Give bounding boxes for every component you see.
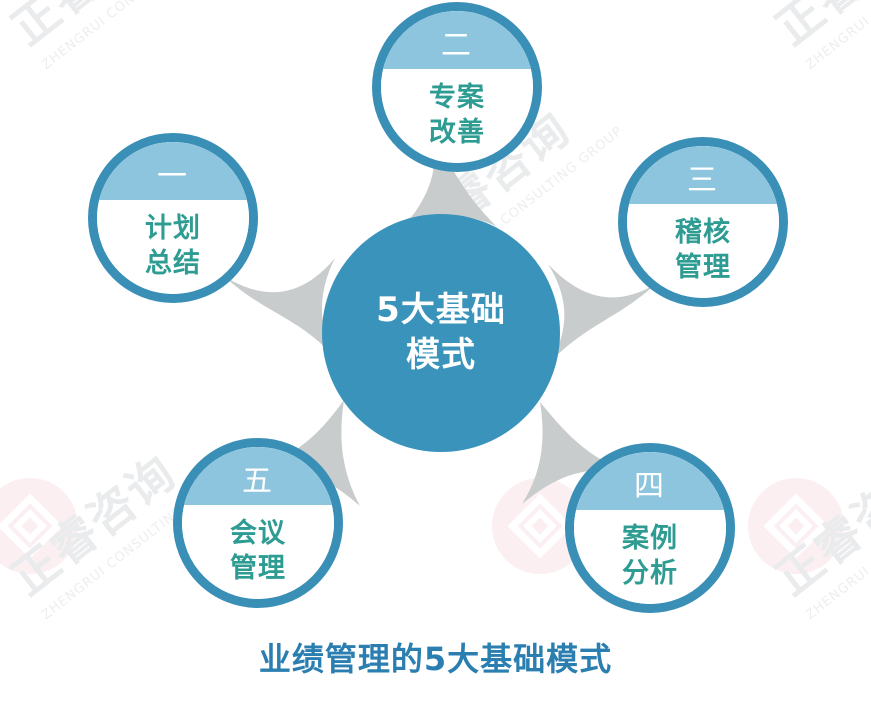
node-label-line-1: 稽核: [675, 216, 731, 251]
node-label-line-2: 改善: [429, 116, 485, 151]
watermark-brand-label: 正睿咨询: [2, 445, 187, 606]
node-body: 计划 总结: [97, 200, 249, 294]
watermark-brand-text: 正睿咨询 ZHENGRUI CONSULTING GROUP: [0, 0, 232, 73]
node-label-line-2: 管理: [230, 552, 286, 587]
node-label-line-1: 案例: [622, 522, 678, 557]
node-label-line-2: 总结: [145, 247, 201, 282]
node-numeral-project-improvement: 二: [381, 11, 533, 69]
node-label-line-2: 管理: [675, 251, 731, 286]
watermark-brand-sub: ZHENGRUI CONSULTING GROUP: [39, 0, 232, 73]
node-audit-management[interactable]: 三 稽核 管理: [618, 137, 788, 307]
node-body: 稽核 管理: [627, 204, 779, 298]
node-body: 专案 改善: [381, 69, 533, 163]
center-hub-line-1: 5大基础: [376, 288, 506, 333]
watermark-brand-label: 正睿咨询: [766, 445, 871, 606]
node-inner: 四 案例 分析: [574, 452, 726, 604]
node-plan-summary[interactable]: 一 计划 总结: [88, 133, 258, 303]
node-label-line-1: 会议: [230, 517, 286, 552]
node-label-line-1: 计划: [145, 212, 201, 247]
watermark-logo: [0, 478, 78, 574]
watermark-brand-text: 正睿咨询 ZHENGRUI CONSULTING GROUP: [760, 413, 871, 623]
node-label-line-1: 专案: [429, 81, 485, 116]
watermark-brand-text: 正睿咨询 ZHENGRUI CONSULTING GROUP: [760, 0, 871, 73]
watermark-brand-sub: ZHENGRUI CONSULTING GROUP: [803, 468, 871, 623]
center-hub-line-2: 模式: [406, 333, 476, 378]
node-body: 案例 分析: [574, 510, 726, 604]
watermark-brand-label: 正睿咨询: [2, 0, 187, 56]
node-body: 会议 管理: [182, 505, 334, 599]
diagram-caption: 业绩管理的5大基础模式: [0, 634, 871, 680]
node-inner: 一 计划 总结: [97, 142, 249, 294]
watermark-brand-label: 正睿咨询: [766, 0, 871, 56]
node-numeral-meeting-management: 五: [182, 447, 334, 505]
node-label-line-2: 分析: [622, 557, 678, 592]
node-project-improvement[interactable]: 二 专案 改善: [372, 2, 542, 172]
watermark-logo: [748, 478, 844, 574]
node-case-analysis[interactable]: 四 案例 分析: [565, 443, 735, 613]
center-hub[interactable]: 5大基础 模式: [322, 214, 560, 452]
node-inner: 三 稽核 管理: [627, 146, 779, 298]
node-meeting-management[interactable]: 五 会议 管理: [173, 438, 343, 608]
node-numeral-case-analysis: 四: [574, 452, 726, 510]
node-numeral-audit-management: 三: [627, 146, 779, 204]
watermark-brand-sub: ZHENGRUI CONSULTING GROUP: [803, 0, 871, 73]
node-inner: 二 专案 改善: [381, 11, 533, 163]
diagram-canvas: 正睿咨询 ZHENGRUI CONSULTING GROUP 正睿咨询 ZHEN…: [0, 0, 871, 705]
node-inner: 五 会议 管理: [182, 447, 334, 599]
node-numeral-plan-summary: 一: [97, 142, 249, 200]
